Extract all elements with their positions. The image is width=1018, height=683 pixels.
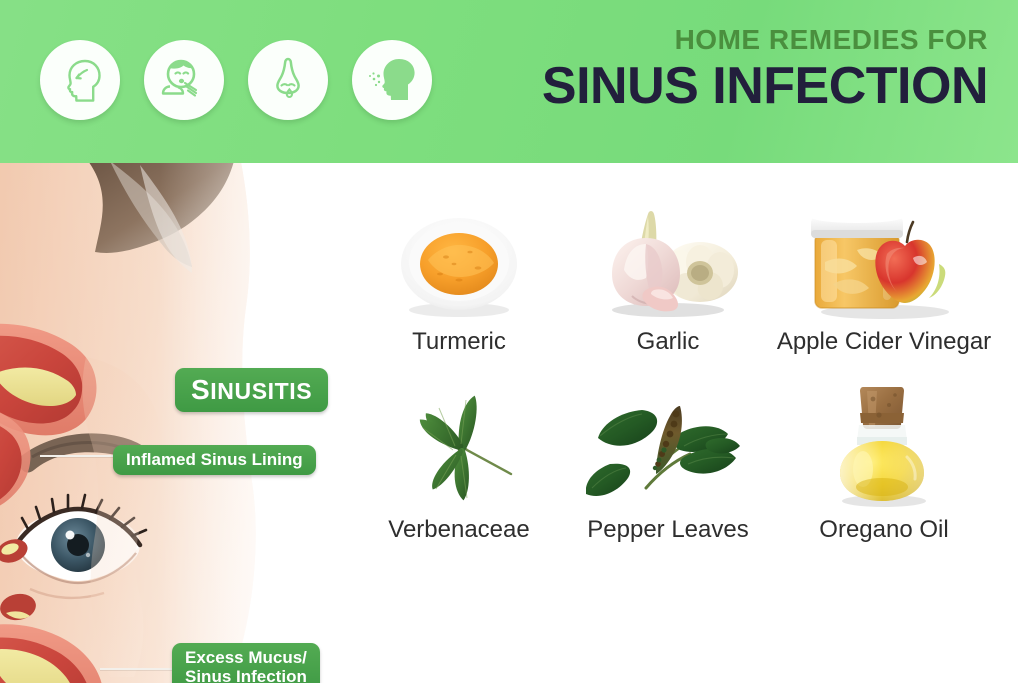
content-area: SINUSITIS Inflamed Sinus Lining Excess M… <box>0 163 1018 683</box>
remedy-apple-cider-vinegar[interactable]: Apple Cider Vinegar <box>763 181 1005 356</box>
label-sinusitis-rest: INUSITIS <box>210 378 312 404</box>
remedies-grid: Turmeric <box>345 181 1005 683</box>
header-banner: HOME REMEDIES FOR SINUS INFECTION <box>0 0 1018 163</box>
garlic-image <box>588 200 748 322</box>
header-main-title: SINUS INFECTION <box>542 60 988 112</box>
remedy-garlic[interactable]: Garlic <box>573 181 763 356</box>
head-sinus-pain-icon <box>40 40 120 120</box>
turmeric-image <box>384 200 534 322</box>
header-title-block: HOME REMEDIES FOR SINUS INFECTION <box>542 26 988 112</box>
infographic-page: HOME REMEDIES FOR SINUS INFECTION <box>0 0 1018 683</box>
sneezing-head-icon <box>352 40 432 120</box>
remedy-label-oregano-oil: Oregano Oil <box>819 516 948 544</box>
remedy-label-verbenaceae: Verbenaceae <box>388 516 529 544</box>
leader-line-inflamed-lining <box>40 455 118 457</box>
remedy-label-apple-cider-vinegar: Apple Cider Vinegar <box>777 328 991 356</box>
label-sinusitis: SINUSITIS <box>175 368 328 412</box>
label-excess-mucus: Excess Mucus/ Sinus Infection <box>172 643 320 683</box>
header-subtitle: HOME REMEDIES FOR <box>542 26 988 54</box>
label-inflamed-sinus-lining: Inflamed Sinus Lining <box>113 445 316 475</box>
remedy-pepper-leaves[interactable]: Pepper Leaves <box>573 369 763 544</box>
label-sinusitis-capital: S <box>191 374 210 405</box>
remedy-verbenaceae[interactable]: Verbenaceae <box>345 369 573 544</box>
pepper-leaves-image <box>586 388 751 510</box>
remedy-row-2: Verbenaceae <box>345 369 1005 544</box>
sinus-cross-section-image <box>0 163 340 683</box>
runny-nose-icon <box>248 40 328 120</box>
remedy-oregano-oil[interactable]: Oregano Oil <box>763 369 1005 544</box>
oregano-oil-image <box>819 388 949 510</box>
leader-line-excess-mucus <box>100 668 178 670</box>
remedy-label-turmeric: Turmeric <box>412 328 506 356</box>
verbenaceae-image <box>379 388 539 510</box>
remedy-label-pepper-leaves: Pepper Leaves <box>587 516 748 544</box>
header-icon-row <box>40 40 432 120</box>
sinus-anatomy-panel <box>0 163 340 683</box>
remedy-turmeric[interactable]: Turmeric <box>345 181 573 356</box>
coughing-person-icon <box>144 40 224 120</box>
remedy-label-garlic: Garlic <box>637 328 700 356</box>
remedy-row-1: Turmeric <box>345 181 1005 356</box>
apple-cider-vinegar-image <box>797 200 972 322</box>
